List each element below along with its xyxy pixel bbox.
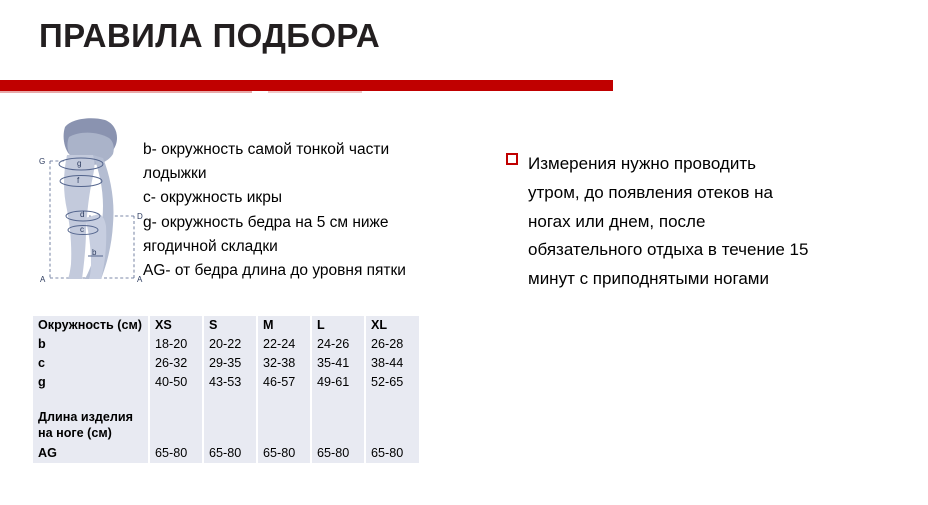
table-cell: 65-80 [311, 444, 365, 463]
row-label: c [33, 354, 149, 373]
title-accent-bar-shadow-left [0, 91, 252, 93]
table-cell: 65-80 [149, 444, 203, 463]
legend-line: b- окружность самой тонкой части [143, 138, 433, 162]
table-cell [257, 408, 311, 444]
table-cell: 38-44 [365, 354, 419, 373]
bullet-line: ногах или днем, после [528, 208, 906, 237]
size-chart-table: Окружность (см) XS S M L XL b 18-20 20-2… [33, 316, 419, 463]
row-label: b [33, 335, 149, 354]
table-cell: 46-57 [257, 373, 311, 392]
table-cell: 65-80 [203, 444, 257, 463]
table-header-cell: XL [365, 316, 419, 335]
legend-line: ягодичной складки [143, 235, 433, 259]
section-label-line2: на ноге (см) [38, 426, 112, 440]
page-title: ПРАВИЛА ПОДБОРА [39, 17, 380, 55]
table-header-cell: L [311, 316, 365, 335]
legend-line: g- окружность бедра на 5 см ниже [143, 211, 433, 235]
table-cell [365, 392, 419, 408]
table-row: c 26-32 29-35 32-38 35-41 38-44 [33, 354, 419, 373]
table-cell: 22-24 [257, 335, 311, 354]
table-header-row: Окружность (см) XS S M L XL [33, 316, 419, 335]
table-row: AG 65-80 65-80 65-80 65-80 65-80 [33, 444, 419, 463]
bullet-text: Измерения нужно проводить утром, до появ… [528, 150, 906, 294]
table-header-cell: S [203, 316, 257, 335]
row-label: g [33, 373, 149, 392]
table-header-cell: XS [149, 316, 203, 335]
row-label: AG [33, 444, 149, 463]
table-section-row: Длина изделия на ноге (см) [33, 408, 419, 444]
table-cell [203, 392, 257, 408]
svg-text:b: b [92, 248, 97, 257]
table-cell: 52-65 [365, 373, 419, 392]
table-header-cell: Окружность (см) [33, 316, 149, 335]
table-cell [257, 392, 311, 408]
title-accent-bar-shadow-right [268, 91, 362, 93]
table-cell: 20-22 [203, 335, 257, 354]
table-cell: 32-38 [257, 354, 311, 373]
red-square-bullet-icon [506, 153, 518, 165]
measurement-legend: b- окружность самой тонкой части лодыжки… [143, 138, 433, 283]
table-cell: 43-53 [203, 373, 257, 392]
table-cell: 65-80 [257, 444, 311, 463]
table-spacer-row [33, 392, 419, 408]
table-cell [311, 392, 365, 408]
table-cell: 65-80 [365, 444, 419, 463]
bullet-line: обязательного отдыха в течение 15 [528, 236, 906, 265]
section-label: Длина изделия на ноге (см) [33, 408, 149, 444]
svg-text:c: c [80, 225, 84, 234]
svg-text:G: G [39, 157, 45, 166]
svg-text:A: A [40, 275, 46, 284]
table-cell: 26-32 [149, 354, 203, 373]
table-cell: 40-50 [149, 373, 203, 392]
bullet-line: Измерения нужно проводить [528, 150, 906, 179]
legend-line: AG- от бедра длина до уровня пятки [143, 259, 433, 283]
section-label-line1: Длина изделия [38, 410, 133, 424]
table-cell [149, 408, 203, 444]
table-row: b 18-20 20-22 22-24 24-26 26-28 [33, 335, 419, 354]
title-accent-bar [0, 80, 613, 91]
table-cell: 49-61 [311, 373, 365, 392]
leg-measurement-diagram: g f d c b G D A A [33, 114, 151, 292]
table-cell: 24-26 [311, 335, 365, 354]
table-row: g 40-50 43-53 46-57 49-61 52-65 [33, 373, 419, 392]
svg-text:g: g [77, 159, 81, 168]
bullet-line: утром, до появления отеков на [528, 179, 906, 208]
bullet-line: минут с приподнятыми ногами [528, 265, 906, 294]
legend-line: c- окружность икры [143, 186, 433, 210]
table-cell: 29-35 [203, 354, 257, 373]
table-cell [365, 408, 419, 444]
svg-text:d: d [80, 210, 84, 219]
table-cell: 18-20 [149, 335, 203, 354]
legend-line: лодыжки [143, 162, 433, 186]
table-cell [149, 392, 203, 408]
table-cell [203, 408, 257, 444]
measurement-advice-bullet: Измерения нужно проводить утром, до появ… [506, 150, 906, 294]
table-cell [311, 408, 365, 444]
table-cell: 35-41 [311, 354, 365, 373]
table-cell: 26-28 [365, 335, 419, 354]
table-cell [33, 392, 149, 408]
table-header-cell: M [257, 316, 311, 335]
